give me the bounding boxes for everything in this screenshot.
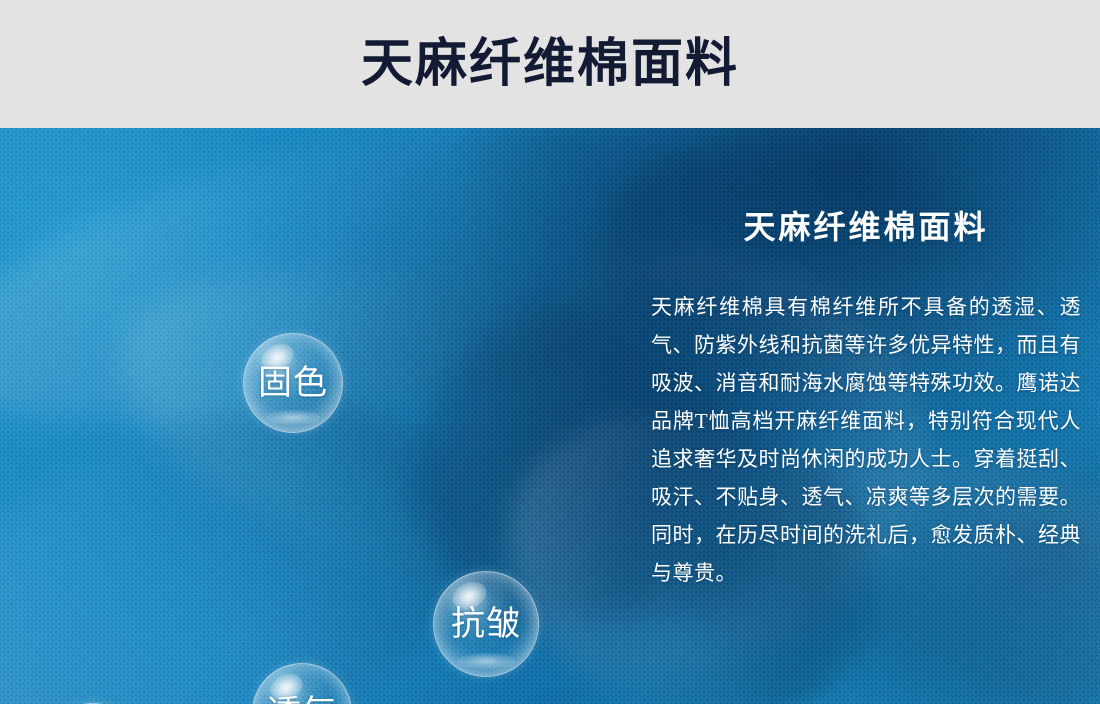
page-title: 天麻纤维棉面料 <box>361 38 739 90</box>
description-block: 天麻纤维棉面料 天麻纤维棉具有棉纤维所不具备的透湿、透气、防紫外线和抗菌等许多优… <box>651 208 1081 592</box>
feature-bubble-label: 透气 <box>267 696 337 704</box>
feature-bubble-gu-se: 固色 <box>243 333 343 433</box>
product-detail-banner: 天麻纤维棉面料 固色 抗皱 透气 亲肤 天麻纤维棉面料 天麻纤维棉具有棉纤维所不… <box>0 0 1100 704</box>
fabric-photo: 固色 抗皱 透气 亲肤 天麻纤维棉面料 天麻纤维棉具有棉纤维所不具备的透湿、透气… <box>0 128 1100 704</box>
page-header-banner: 天麻纤维棉面料 <box>0 0 1100 128</box>
description-heading: 天麻纤维棉面料 <box>651 208 1081 246</box>
feature-bubble-kang-zhou: 抗皱 <box>433 571 539 677</box>
description-body: 天麻纤维棉具有棉纤维所不具备的透湿、透气、防紫外线和抗菌等许多优异特性，而且有吸… <box>651 288 1081 592</box>
feature-bubble-label: 固色 <box>258 366 328 400</box>
feature-bubble-label: 抗皱 <box>451 607 521 641</box>
